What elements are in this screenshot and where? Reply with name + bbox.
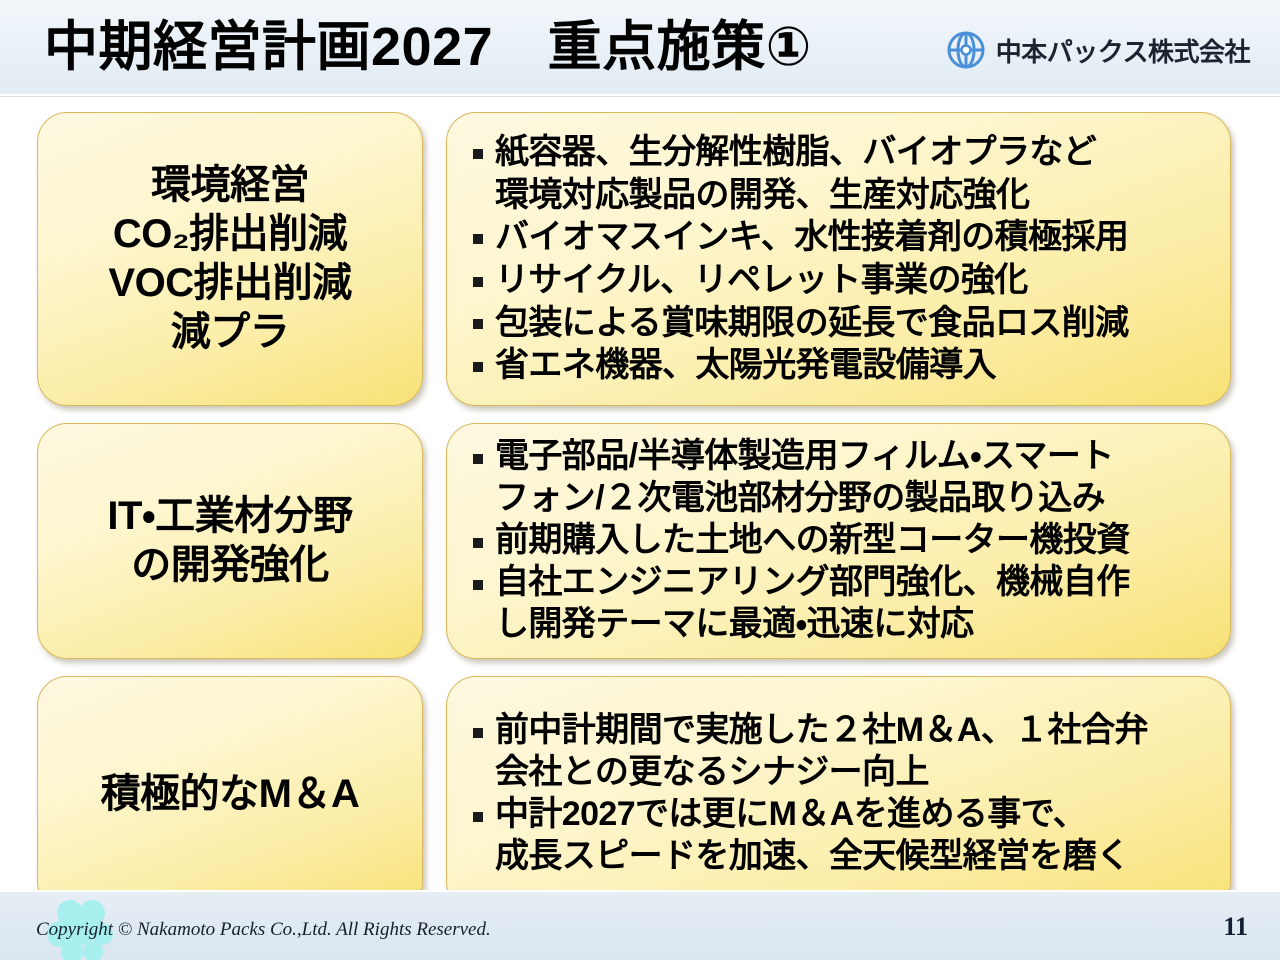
bullet-list-3: 前中計期間で実施した２社M＆A、１社合弁 会社との更なるシナジー向上 中計202… <box>447 710 1230 878</box>
bullet-list-2: 電子部品/半導体製造用フィルム・スマート フォン/２次電池部材分野の製品取り込み… <box>447 436 1230 646</box>
copyright-text: Copyright © Nakamoto Packs Co.,Ltd. All … <box>36 919 491 941</box>
slide-header: 中期経営計画2027 重点施策① 中本パックス株式会社 <box>0 0 1280 96</box>
slide-content: 環境経営 CO₂排出削減 VOC排出削減 減プラ 紙容器、生分解性樹脂、バイオプ… <box>0 96 1280 890</box>
list-item: リサイクル、リペレット事業の強化 <box>469 259 1204 302</box>
category-box-2: IT・工業材分野 の開発強化 <box>37 423 423 659</box>
bullet-square-icon <box>473 277 483 287</box>
list-item: 紙容器、生分解性樹脂、バイオプラなど 環境対応製品の開発、生産対応強化 <box>469 131 1204 216</box>
bullet-text: 省エネ機器、太陽光発電設備導入 <box>495 344 996 387</box>
bullet-square-icon <box>473 812 483 822</box>
list-item: 前期購入した土地への新型コーター機投資 <box>469 520 1204 562</box>
bullet-text: 前中計期間で実施した２社M＆A、１社合弁 会社との更なるシナジー向上 <box>495 710 1148 794</box>
bullet-list-1: 紙容器、生分解性樹脂、バイオプラなど 環境対応製品の開発、生産対応強化 バイオマ… <box>447 131 1230 387</box>
list-item: 電子部品/半導体製造用フィルム・スマート フォン/２次電池部材分野の製品取り込み <box>469 436 1204 520</box>
bullet-text: 自社エンジニアリング部門強化、機械自作 し開発テーマに最適・迅速に対応 <box>495 562 1130 646</box>
slide: 中期経営計画2027 重点施策① 中本パックス株式会社 環境経営 CO₂排出削減… <box>0 0 1280 960</box>
bullet-text: 中計2027では更にM＆Aを進める事で、 成長スピードを加速、全天候型経営を磨く <box>495 794 1130 878</box>
bullet-square-icon <box>473 538 483 548</box>
bullet-text: バイオマスインキ、水性接着剤の積極採用 <box>495 216 1128 259</box>
list-item: 自社エンジニアリング部門強化、機械自作 し開発テーマに最適・迅速に対応 <box>469 562 1204 646</box>
bullet-text: 前期購入した土地への新型コーター機投資 <box>495 520 1130 562</box>
bullet-square-icon <box>473 362 483 372</box>
bullet-text: 包装による賞味期限の延長で食品ロス削減 <box>495 302 1129 345</box>
bullet-square-icon <box>473 234 483 244</box>
globe-grid-logo-icon <box>946 30 986 70</box>
bullet-text: 電子部品/半導体製造用フィルム・スマート フォン/２次電池部材分野の製品取り込み <box>495 436 1114 520</box>
measure-row-2: IT・工業材分野 の開発強化 電子部品/半導体製造用フィルム・スマート フォン/… <box>0 423 1280 659</box>
bullet-square-icon <box>473 149 483 159</box>
measure-row-3: 積極的なM＆A 前中計期間で実施した２社M＆A、１社合弁 会社との更なるシナジー… <box>0 676 1280 912</box>
list-item: 省エネ機器、太陽光発電設備導入 <box>469 344 1204 387</box>
bullet-square-icon <box>473 319 483 329</box>
category-box-3: 積極的なM＆A <box>37 676 423 912</box>
list-item: バイオマスインキ、水性接着剤の積極採用 <box>469 216 1204 259</box>
category-box-1: 環境経営 CO₂排出削減 VOC排出削減 減プラ <box>37 112 423 406</box>
page-number: 11 <box>1223 912 1248 942</box>
category-label-2: IT・工業材分野 の開発強化 <box>97 492 362 590</box>
detail-box-1: 紙容器、生分解性樹脂、バイオプラなど 環境対応製品の開発、生産対応強化 バイオマ… <box>446 112 1231 406</box>
bullet-text: リサイクル、リペレット事業の強化 <box>495 259 1028 302</box>
measure-row-1: 環境経営 CO₂排出削減 VOC排出削減 減プラ 紙容器、生分解性樹脂、バイオプ… <box>0 112 1280 406</box>
bullet-square-icon <box>473 454 483 464</box>
page-title: 中期経営計画2027 重点施策① <box>44 8 812 86</box>
bullet-square-icon <box>473 580 483 590</box>
detail-box-3: 前中計期間で実施した２社M＆A、１社合弁 会社との更なるシナジー向上 中計202… <box>446 676 1231 912</box>
company-logo: 中本パックス株式会社 <box>946 30 1250 70</box>
category-label-1: 環境経営 CO₂排出削減 VOC排出削減 減プラ <box>98 161 361 356</box>
detail-box-2: 電子部品/半導体製造用フィルム・スマート フォン/２次電池部材分野の製品取り込み… <box>446 423 1231 659</box>
category-label-3: 積極的なM＆A <box>91 770 370 819</box>
list-item: 中計2027では更にM＆Aを進める事で、 成長スピードを加速、全天候型経営を磨く <box>469 794 1204 878</box>
list-item: 包装による賞味期限の延長で食品ロス削減 <box>469 302 1204 345</box>
bullet-square-icon <box>473 728 483 738</box>
slide-footer: Copyright © Nakamoto Packs Co.,Ltd. All … <box>0 890 1280 960</box>
list-item: 前中計期間で実施した２社M＆A、１社合弁 会社との更なるシナジー向上 <box>469 710 1204 794</box>
company-name: 中本パックス株式会社 <box>996 32 1250 69</box>
bullet-text: 紙容器、生分解性樹脂、バイオプラなど 環境対応製品の開発、生産対応強化 <box>495 131 1096 216</box>
